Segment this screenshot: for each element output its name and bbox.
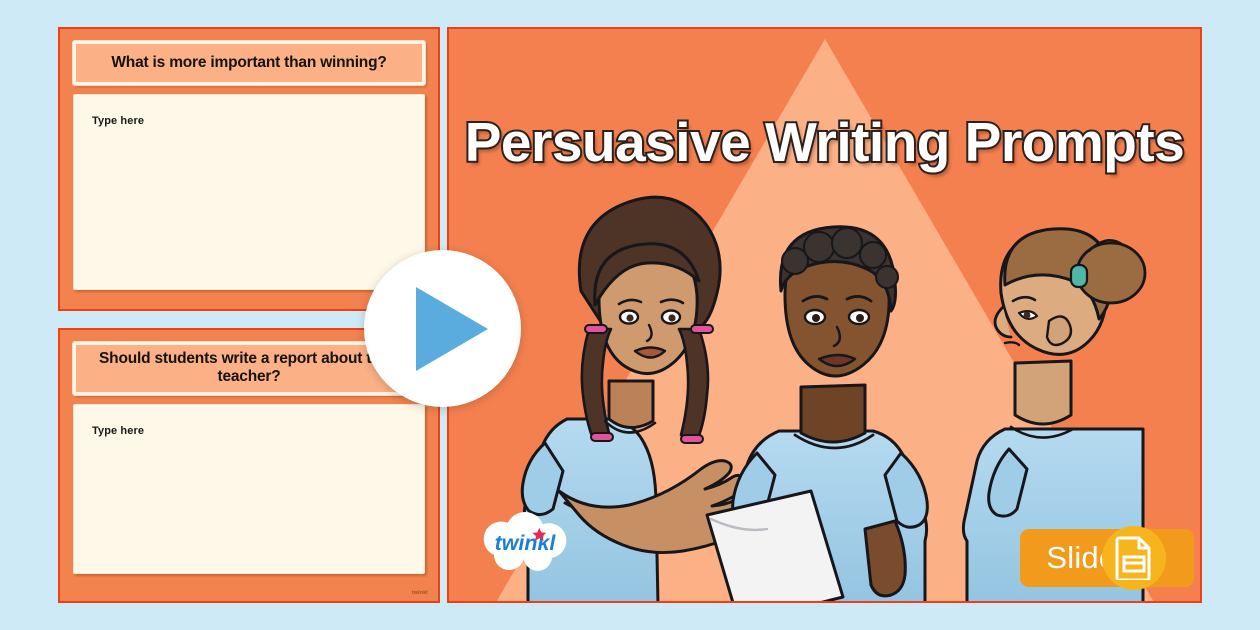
play-button[interactable]	[364, 250, 521, 407]
answer-placeholder-2: Type here	[92, 425, 406, 437]
screenshot-canvas: What is more important than winning? Typ…	[0, 0, 1260, 630]
worksheet-slide-1[interactable]: What is more important than winning? Typ…	[58, 27, 440, 311]
twinkl-logo: twinkl	[477, 512, 573, 574]
worksheet-watermark-2: twinkl	[412, 590, 428, 596]
worksheet-question-text-1: What is more important than winning?	[111, 54, 386, 72]
slides-badge-icon-circle	[1102, 526, 1166, 590]
svg-text:twinkl: twinkl	[495, 531, 557, 555]
play-triangle-icon	[416, 287, 488, 371]
worksheet-question-text-2: Should students write a report about the…	[84, 350, 414, 387]
cover-slide-title: Persuasive Writing Prompts	[449, 115, 1200, 170]
worksheet-question-banner-1: What is more important than winning?	[73, 41, 425, 85]
google-slides-document-icon	[1115, 536, 1153, 580]
answer-placeholder-1: Type here	[92, 115, 406, 127]
worksheet-answer-box-2[interactable]: Type here	[73, 404, 425, 574]
slides-badge[interactable]: Slides	[1020, 526, 1194, 590]
figure-boy-holding-paper	[707, 227, 927, 603]
cover-slide[interactable]: Persuasive Writing Prompts	[447, 27, 1202, 603]
worksheet-answer-box-1[interactable]: Type here	[73, 94, 425, 290]
